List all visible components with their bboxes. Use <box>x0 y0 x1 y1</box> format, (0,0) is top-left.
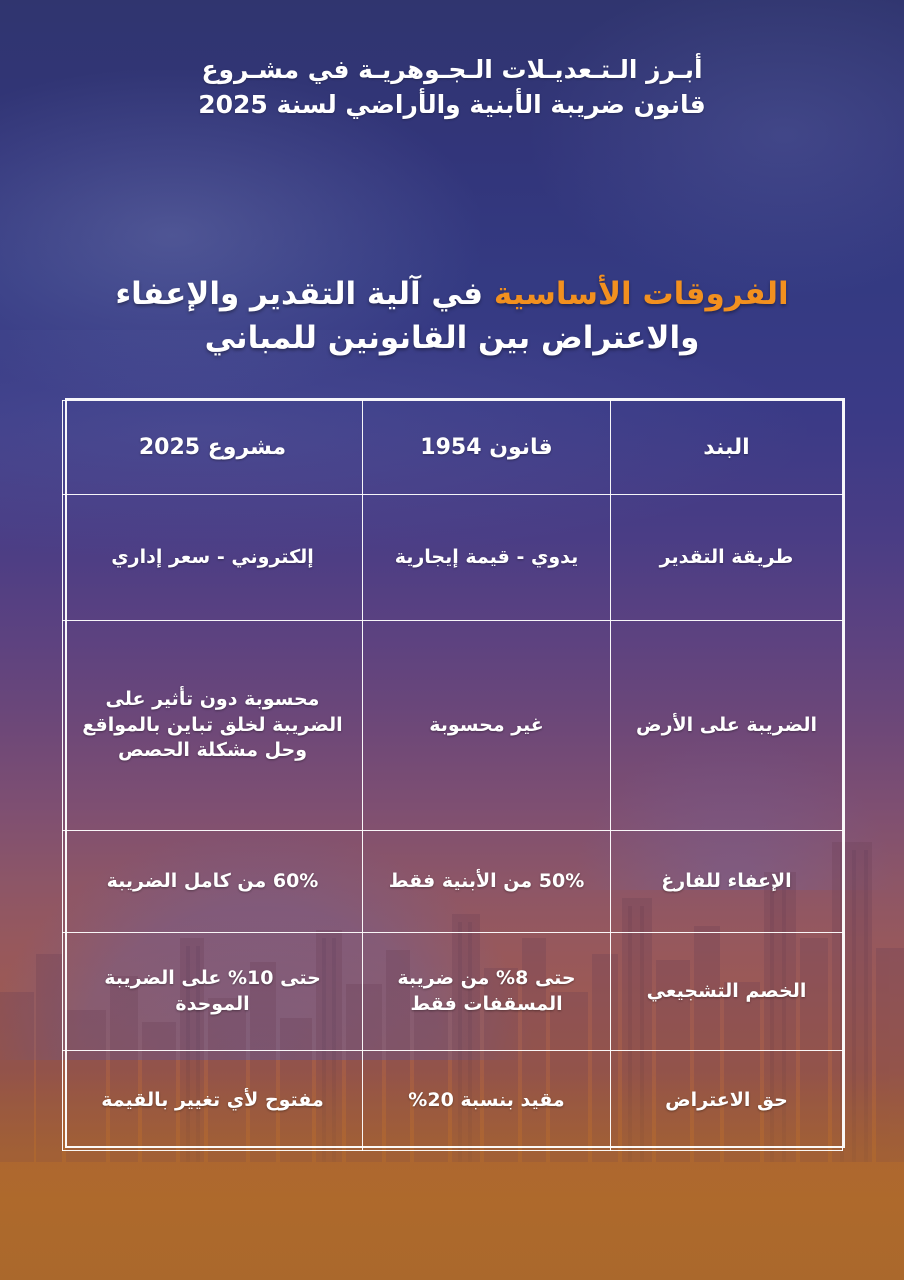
cell-item: طريقة التقدير <box>611 495 843 621</box>
page-title-line-1: أبـرز الـتـعديـلات الـجـوهريـة في مشـروع <box>120 52 784 87</box>
table-row: الخصم التشجيعي حتى 8% من ضريبة المسقفات … <box>63 933 843 1051</box>
table-row: الإعفاء للفارغ 50% من الأبنية فقط 60% من… <box>63 831 843 933</box>
table-row: الضريبة على الأرض غير محسوبة محسوبة دون … <box>63 621 843 831</box>
cell-draft-2025: 60% من كامل الضريبة <box>63 831 363 933</box>
cell-law-1954: 50% من الأبنية فقط <box>363 831 611 933</box>
cell-law-1954: يدوي - قيمة إيجارية <box>363 495 611 621</box>
cell-item: الإعفاء للفارغ <box>611 831 843 933</box>
comparison-table: البند قانون 1954 مشروع 2025 طريقة التقدي… <box>62 400 843 1151</box>
column-header-draft-2025: مشروع 2025 <box>63 401 363 495</box>
cell-draft-2025: حتى 10% على الضريبة الموحدة <box>63 933 363 1051</box>
cloud-haze-right <box>524 0 904 300</box>
comparison-table-container: البند قانون 1954 مشروع 2025 طريقة التقدي… <box>65 398 845 1148</box>
section-heading-highlight: الفروقات الأساسية <box>494 276 789 312</box>
column-header-law-1954: قانون 1954 <box>363 401 611 495</box>
page-title-line-2: قانون ضريبة الأبنية والأراضي لسنة 2025 <box>120 87 784 122</box>
section-heading-rest: في آلية التقدير والإعفاء <box>115 276 494 312</box>
cell-law-1954: حتى 8% من ضريبة المسقفات فقط <box>363 933 611 1051</box>
infographic-poster: أبـرز الـتـعديـلات الـجـوهريـة في مشـروع… <box>0 0 904 1280</box>
cell-law-1954: غير محسوبة <box>363 621 611 831</box>
table-row: طريقة التقدير يدوي - قيمة إيجارية إلكترو… <box>63 495 843 621</box>
cell-item: الضريبة على الأرض <box>611 621 843 831</box>
cell-draft-2025: إلكتروني - سعر إداري <box>63 495 363 621</box>
table-row: حق الاعتراض مقيد بنسبة 20% مفتوح لأي تغي… <box>63 1051 843 1151</box>
cell-item: الخصم التشجيعي <box>611 933 843 1051</box>
cell-item: حق الاعتراض <box>611 1051 843 1151</box>
section-heading-line-2: والاعتراض بين القانونين للمباني <box>60 316 844 360</box>
section-heading-line-1: الفروقات الأساسية في آلية التقدير والإعف… <box>60 272 844 316</box>
cell-draft-2025: محسوبة دون تأثير على الضريبة لخلق تباين … <box>63 621 363 831</box>
page-title: أبـرز الـتـعديـلات الـجـوهريـة في مشـروع… <box>0 52 904 122</box>
table-header-row: البند قانون 1954 مشروع 2025 <box>63 401 843 495</box>
section-heading: الفروقات الأساسية في آلية التقدير والإعف… <box>0 272 904 360</box>
column-header-item: البند <box>611 401 843 495</box>
cell-law-1954: مقيد بنسبة 20% <box>363 1051 611 1151</box>
cell-draft-2025: مفتوح لأي تغيير بالقيمة <box>63 1051 363 1151</box>
